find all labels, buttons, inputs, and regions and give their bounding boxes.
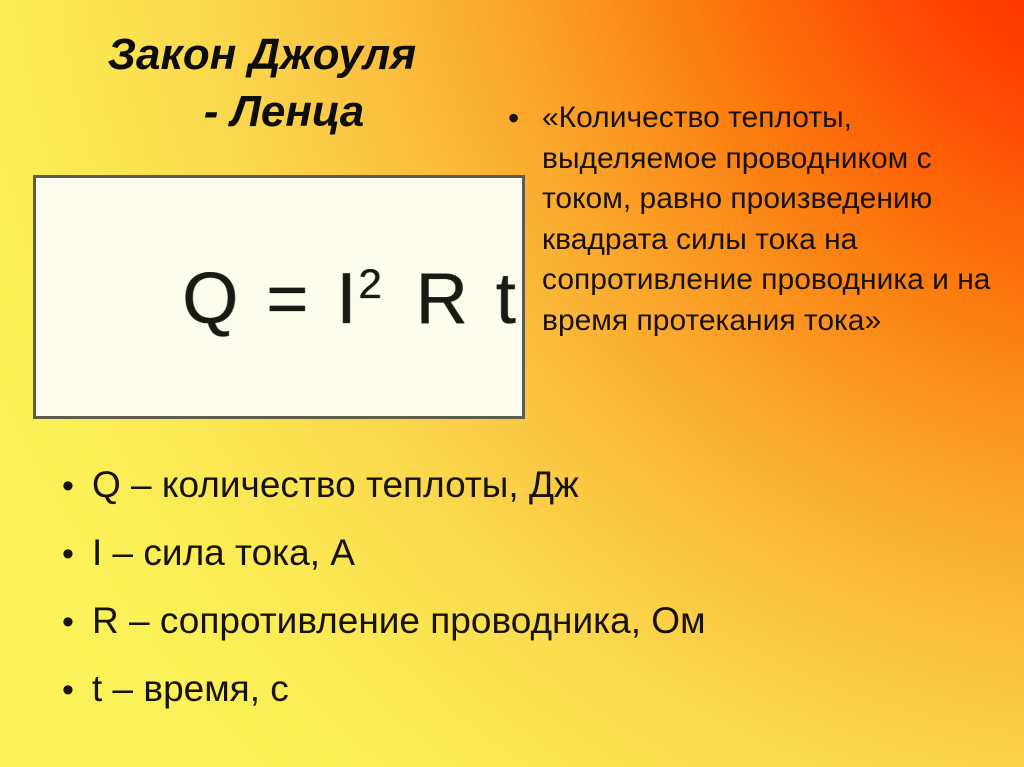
legend-item-text: t – время, с xyxy=(92,670,992,707)
legend-list: • Q – количество теплоты, Дж • I – сила … xyxy=(52,466,992,738)
formula-box: Q = I2 R t xyxy=(33,175,525,419)
slide-canvas: Закон Джоуля - Ленца Q = I2 R t • «Колич… xyxy=(0,0,1024,767)
bullet-icon: • xyxy=(500,98,542,138)
list-item: • I – сила тока, А xyxy=(52,534,992,602)
quote-text: «Количество теплоты, выделяемое проводни… xyxy=(542,98,1010,341)
list-item: • Q – количество теплоты, Дж xyxy=(52,466,992,534)
quote-block: • «Количество теплоты, выделяемое провод… xyxy=(500,98,1010,341)
slide-title-line-1: Закон Джоуля xyxy=(52,26,472,83)
list-item: • R – сопротивление проводника, Ом xyxy=(52,602,992,670)
formula-expression: Q = I2 R t xyxy=(38,191,519,407)
formula-spacer xyxy=(386,259,416,339)
legend-item-text: R – сопротивление проводника, Ом xyxy=(92,602,992,639)
list-item: • t – время, с xyxy=(52,670,992,738)
bullet-icon: • xyxy=(52,537,92,571)
bullet-icon: • xyxy=(52,605,92,639)
legend-item-text: Q – количество теплоты, Дж xyxy=(92,466,992,503)
bullet-icon: • xyxy=(52,673,92,707)
legend-item-text: I – сила тока, А xyxy=(92,534,992,571)
slide-title: Закон Джоуля - Ленца xyxy=(52,26,472,140)
formula-exponent: 2 xyxy=(358,260,381,307)
slide-title-line-2: - Ленца xyxy=(52,83,472,140)
quote-row: • «Количество теплоты, выделяемое провод… xyxy=(500,98,1010,341)
formula-base: Q = I xyxy=(182,259,360,339)
bullet-icon: • xyxy=(52,469,92,503)
